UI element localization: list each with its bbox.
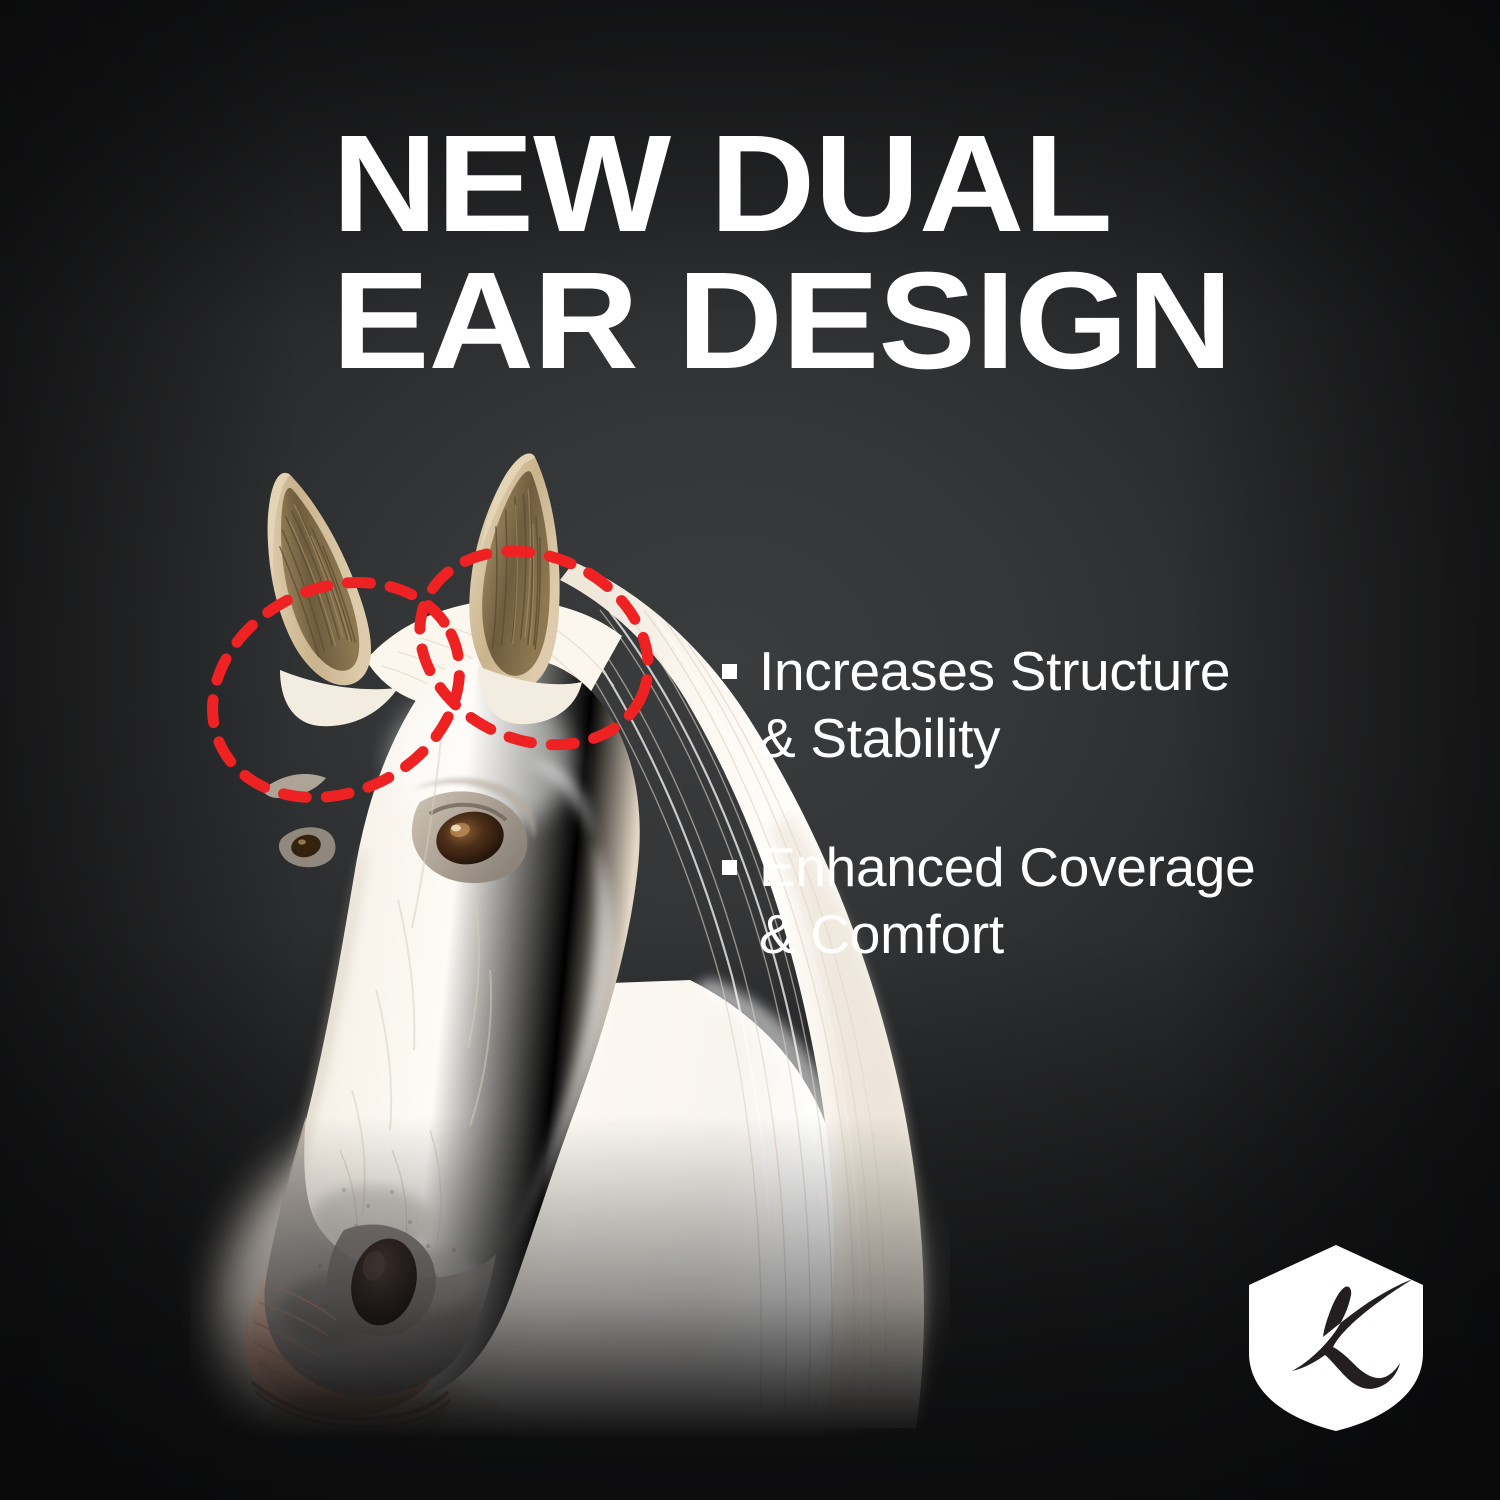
headline-line-1: NEW DUAL — [332, 116, 1456, 253]
ad-creative-canvas: NEW DUAL EAR DESIGN Increases Structure … — [0, 0, 1500, 1500]
brand-logo — [1245, 1243, 1427, 1433]
list-item: Increases Structure & Stability — [722, 638, 1422, 772]
feature-list: Increases Structure & Stability Enhanced… — [722, 638, 1422, 1030]
feature-text: Increases Structure & Stability — [759, 638, 1230, 772]
page-title: NEW DUAL EAR DESIGN — [332, 116, 1456, 389]
square-bullet-icon — [722, 664, 737, 679]
feature-text: Enhanced Coverage & Comfort — [759, 834, 1255, 968]
list-item: Enhanced Coverage & Comfort — [722, 834, 1422, 968]
headline-line-2: EAR DESIGN — [332, 253, 1456, 390]
shield-k-logo-icon — [1245, 1243, 1427, 1433]
square-bullet-icon — [722, 860, 737, 875]
